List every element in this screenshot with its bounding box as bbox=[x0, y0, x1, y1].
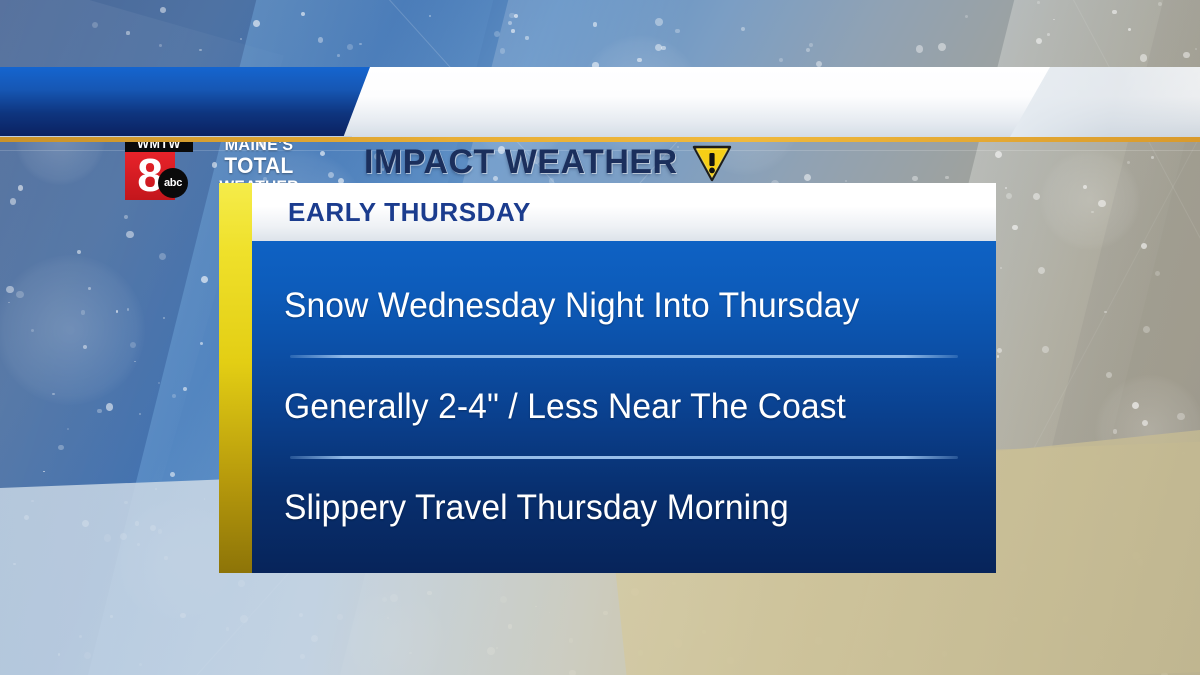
snow-dot bbox=[164, 556, 167, 559]
snow-dot bbox=[496, 647, 498, 649]
snow-dot bbox=[226, 627, 229, 630]
snow-dot bbox=[299, 613, 303, 617]
snow-dot bbox=[997, 348, 1002, 353]
background-bokeh bbox=[1040, 150, 1140, 250]
snow-dot bbox=[311, 635, 318, 642]
snow-dot bbox=[1137, 559, 1143, 565]
snow-dot bbox=[134, 361, 136, 363]
snow-dot bbox=[240, 615, 248, 623]
snow-dot bbox=[16, 291, 23, 298]
snow-dot bbox=[916, 45, 923, 52]
snow-dot bbox=[997, 355, 1000, 358]
snow-dot bbox=[328, 172, 334, 178]
snow-dot bbox=[494, 31, 500, 37]
snow-dot bbox=[945, 176, 948, 179]
snow-dot bbox=[1053, 19, 1055, 21]
bullet-text: Snow Wednesday Night Into Thursday bbox=[284, 286, 859, 326]
top-banner: WMTW 8 abc MAINE'S TOTAL WEATHER IMPACT … bbox=[0, 67, 1200, 137]
snow-dot bbox=[83, 345, 87, 349]
snow-dot bbox=[126, 31, 129, 34]
snow-dot bbox=[116, 310, 119, 313]
snow-dot bbox=[1005, 187, 1007, 189]
snow-dot bbox=[828, 671, 831, 674]
snow-dot bbox=[1151, 156, 1154, 159]
snow-dot bbox=[158, 382, 160, 384]
snow-dot bbox=[1141, 243, 1147, 249]
snow-dot bbox=[809, 43, 813, 47]
snow-dot bbox=[637, 58, 642, 63]
snow-dot bbox=[1094, 455, 1099, 460]
snow-dot bbox=[535, 606, 537, 608]
snow-dot bbox=[1136, 653, 1140, 657]
snow-dot bbox=[139, 663, 142, 666]
snow-dot bbox=[6, 286, 13, 293]
snow-dot bbox=[24, 515, 30, 521]
snow-dot bbox=[1042, 346, 1049, 353]
snow-dot bbox=[1158, 2, 1162, 6]
list-item: Snow Wednesday Night Into Thursday bbox=[274, 257, 974, 355]
snow-dot bbox=[84, 652, 91, 659]
snow-dot bbox=[1128, 28, 1131, 31]
snow-dot bbox=[127, 308, 130, 311]
snow-dot bbox=[1038, 267, 1045, 274]
snow-dot bbox=[1019, 573, 1022, 576]
snow-dot bbox=[799, 583, 805, 589]
snow-dot bbox=[170, 472, 175, 477]
snow-dot bbox=[137, 543, 140, 546]
snow-dot bbox=[1177, 413, 1184, 420]
snow-dot bbox=[549, 612, 551, 614]
snow-dot bbox=[253, 20, 260, 27]
snow-dot bbox=[1195, 48, 1197, 50]
snow-dot bbox=[67, 428, 69, 430]
snow-dot bbox=[301, 12, 305, 16]
snow-dot bbox=[201, 276, 208, 283]
snow-dot bbox=[1143, 326, 1151, 334]
snow-dot bbox=[815, 637, 823, 645]
snow-dot bbox=[508, 21, 512, 25]
snow-dot bbox=[150, 525, 157, 532]
snow-dot bbox=[1142, 420, 1148, 426]
weather-graphic-stage: WMTW 8 abc MAINE'S TOTAL WEATHER IMPACT … bbox=[0, 0, 1200, 675]
snow-dot bbox=[603, 611, 607, 615]
snow-dot bbox=[1013, 617, 1018, 622]
snow-dot bbox=[77, 250, 81, 254]
bullet-list: Snow Wednesday Night Into Thursday Gener… bbox=[274, 241, 974, 573]
snow-dot bbox=[1006, 193, 1012, 199]
snow-dot bbox=[240, 38, 242, 40]
banner-blue-panel bbox=[0, 67, 348, 137]
snow-dot bbox=[387, 617, 389, 619]
snow-dot bbox=[674, 639, 682, 647]
snow-dot bbox=[429, 15, 431, 17]
snow-dot bbox=[382, 597, 387, 602]
snow-dot bbox=[995, 151, 1002, 158]
snow-dot bbox=[916, 577, 919, 580]
snow-dot bbox=[337, 614, 343, 620]
snow-dot bbox=[124, 215, 129, 220]
snow-dot bbox=[10, 198, 16, 204]
snow-dot bbox=[1132, 552, 1140, 560]
snow-dot bbox=[727, 657, 734, 664]
snow-dot bbox=[337, 54, 340, 57]
snow-dot bbox=[1132, 402, 1139, 409]
snow-dot bbox=[238, 580, 245, 587]
snow-dot bbox=[159, 44, 162, 47]
forecast-card: EARLY THURSDAY Snow Wednesday Night Into… bbox=[219, 183, 996, 573]
banner-headline-group: IMPACT WEATHER bbox=[364, 143, 732, 182]
banner-gold-rule bbox=[0, 137, 1200, 142]
list-item: Generally 2-4" / Less Near The Coast bbox=[274, 358, 974, 456]
snow-dot bbox=[390, 594, 398, 602]
snow-dot bbox=[938, 43, 946, 51]
snow-dot bbox=[155, 488, 157, 490]
snow-dot bbox=[120, 533, 127, 540]
snow-dot bbox=[1112, 10, 1117, 15]
brand-line-2: TOTAL bbox=[203, 154, 315, 177]
snow-dot bbox=[525, 36, 528, 39]
background-bokeh bbox=[1095, 375, 1200, 485]
snow-dot bbox=[92, 22, 98, 28]
snow-dot bbox=[741, 27, 745, 31]
snow-dot bbox=[804, 174, 811, 181]
snow-dot bbox=[1033, 193, 1040, 200]
warning-triangle-icon bbox=[692, 144, 732, 182]
snow-dot bbox=[183, 387, 188, 392]
snow-dot bbox=[778, 626, 785, 633]
snow-dot bbox=[982, 584, 987, 589]
snow-dot bbox=[508, 624, 513, 629]
logo-abc-badge: abc bbox=[158, 168, 188, 198]
snow-dot bbox=[514, 14, 518, 18]
snow-dot bbox=[638, 650, 643, 655]
card-body: EARLY THURSDAY Snow Wednesday Night Into… bbox=[252, 183, 996, 573]
snow-dot bbox=[104, 534, 111, 541]
snow-dot bbox=[845, 180, 847, 182]
snow-dot bbox=[655, 44, 662, 51]
snow-dot bbox=[124, 501, 127, 504]
snow-dot bbox=[180, 613, 185, 618]
snow-dot bbox=[655, 18, 663, 26]
snow-dot bbox=[97, 409, 102, 414]
snow-dot bbox=[135, 521, 140, 526]
snow-dot bbox=[1066, 529, 1073, 536]
snow-dot bbox=[110, 615, 113, 618]
snow-dot bbox=[509, 13, 514, 18]
snow-dot bbox=[942, 651, 948, 657]
snow-dot bbox=[320, 151, 325, 156]
snow-dot bbox=[82, 520, 89, 527]
snow-dot bbox=[1155, 271, 1160, 276]
card-bullet-panel: Snow Wednesday Night Into Thursday Gener… bbox=[252, 241, 996, 573]
snow-dot bbox=[1012, 225, 1017, 230]
snow-dot bbox=[965, 15, 968, 18]
snow-dot bbox=[1100, 656, 1103, 659]
snow-dot bbox=[200, 342, 203, 345]
snow-dot bbox=[887, 650, 895, 658]
snow-dot bbox=[1047, 33, 1050, 36]
snow-dot bbox=[427, 591, 432, 596]
snow-dot bbox=[1036, 38, 1042, 44]
snow-dot bbox=[347, 44, 353, 50]
snow-dot bbox=[487, 647, 495, 655]
snow-dot bbox=[1091, 211, 1094, 214]
snow-dot bbox=[1113, 512, 1118, 517]
snow-dot bbox=[1033, 652, 1039, 658]
snow-dot bbox=[569, 670, 576, 675]
snow-dot bbox=[1104, 311, 1106, 313]
background-bokeh bbox=[635, 555, 765, 675]
snow-dot bbox=[1020, 564, 1027, 571]
snow-dot bbox=[88, 287, 91, 290]
list-item: Slippery Travel Thursday Morning bbox=[274, 459, 974, 557]
snow-dot bbox=[1106, 372, 1112, 378]
snow-dot bbox=[172, 394, 176, 398]
background-bokeh bbox=[0, 255, 145, 405]
snow-dot bbox=[702, 630, 706, 634]
card-yellow-accent-bar bbox=[219, 183, 252, 573]
snow-dot bbox=[986, 597, 992, 603]
bullet-text: Slippery Travel Thursday Morning bbox=[284, 488, 789, 528]
background-bokeh bbox=[345, 590, 445, 675]
snow-dot bbox=[1041, 480, 1046, 485]
snow-dot bbox=[31, 329, 34, 332]
snow-dot bbox=[300, 654, 305, 659]
snow-dot bbox=[806, 48, 810, 52]
snow-dot bbox=[18, 185, 23, 190]
snow-dot bbox=[126, 231, 134, 239]
card-header: EARLY THURSDAY bbox=[252, 183, 996, 241]
snow-dot bbox=[1140, 54, 1148, 62]
snow-dot bbox=[661, 46, 665, 50]
snow-dot bbox=[163, 317, 165, 319]
snow-dot bbox=[318, 37, 323, 42]
snow-dot bbox=[58, 653, 60, 655]
snow-dot bbox=[204, 498, 206, 500]
snow-dot bbox=[1098, 200, 1105, 207]
snow-dot bbox=[1127, 161, 1130, 164]
snow-dot bbox=[409, 652, 412, 655]
snow-dot bbox=[160, 7, 166, 13]
snow-dot bbox=[1000, 267, 1002, 269]
snow-dot bbox=[1159, 488, 1167, 496]
snow-dot bbox=[158, 529, 163, 534]
snow-dot bbox=[500, 48, 506, 54]
snow-dot bbox=[593, 22, 598, 27]
snow-dot bbox=[500, 596, 507, 603]
snow-dot bbox=[1080, 635, 1087, 642]
snow-dot bbox=[1183, 52, 1190, 59]
snow-dot bbox=[359, 43, 361, 45]
snow-dot bbox=[672, 582, 676, 586]
impact-weather-headline: IMPACT WEATHER bbox=[364, 143, 678, 182]
snow-dot bbox=[816, 637, 818, 639]
snow-dot bbox=[511, 29, 515, 33]
snow-dot bbox=[1155, 610, 1163, 618]
snow-dot bbox=[1113, 429, 1117, 433]
card-title: EARLY THURSDAY bbox=[288, 197, 531, 228]
background-bokeh bbox=[115, 500, 235, 620]
snow-dot bbox=[199, 49, 201, 51]
snow-dot bbox=[1121, 486, 1124, 489]
snow-dot bbox=[81, 310, 85, 314]
snow-dot bbox=[8, 302, 10, 304]
snow-dot bbox=[79, 635, 82, 638]
snow-dot bbox=[43, 471, 45, 473]
wmtw-station-logo: WMTW 8 abc bbox=[120, 137, 198, 201]
snow-dot bbox=[1182, 452, 1186, 456]
snow-dot bbox=[31, 500, 33, 502]
snow-dot bbox=[159, 253, 166, 260]
snow-dot bbox=[675, 29, 680, 34]
snow-dot bbox=[779, 58, 783, 62]
snow-dot bbox=[52, 393, 55, 396]
snow-dot bbox=[58, 445, 64, 451]
snow-dot bbox=[1062, 616, 1069, 623]
snow-dot bbox=[106, 403, 113, 410]
snow-dot bbox=[13, 563, 16, 566]
snow-dot bbox=[631, 588, 639, 596]
bullet-text: Generally 2-4" / Less Near The Coast bbox=[284, 387, 846, 427]
snow-dot bbox=[130, 342, 136, 348]
snow-dot bbox=[912, 176, 918, 182]
snow-dot bbox=[1037, 1, 1040, 4]
snow-dot bbox=[139, 413, 141, 415]
snow-dot bbox=[569, 638, 573, 642]
snow-dot bbox=[1083, 185, 1087, 189]
